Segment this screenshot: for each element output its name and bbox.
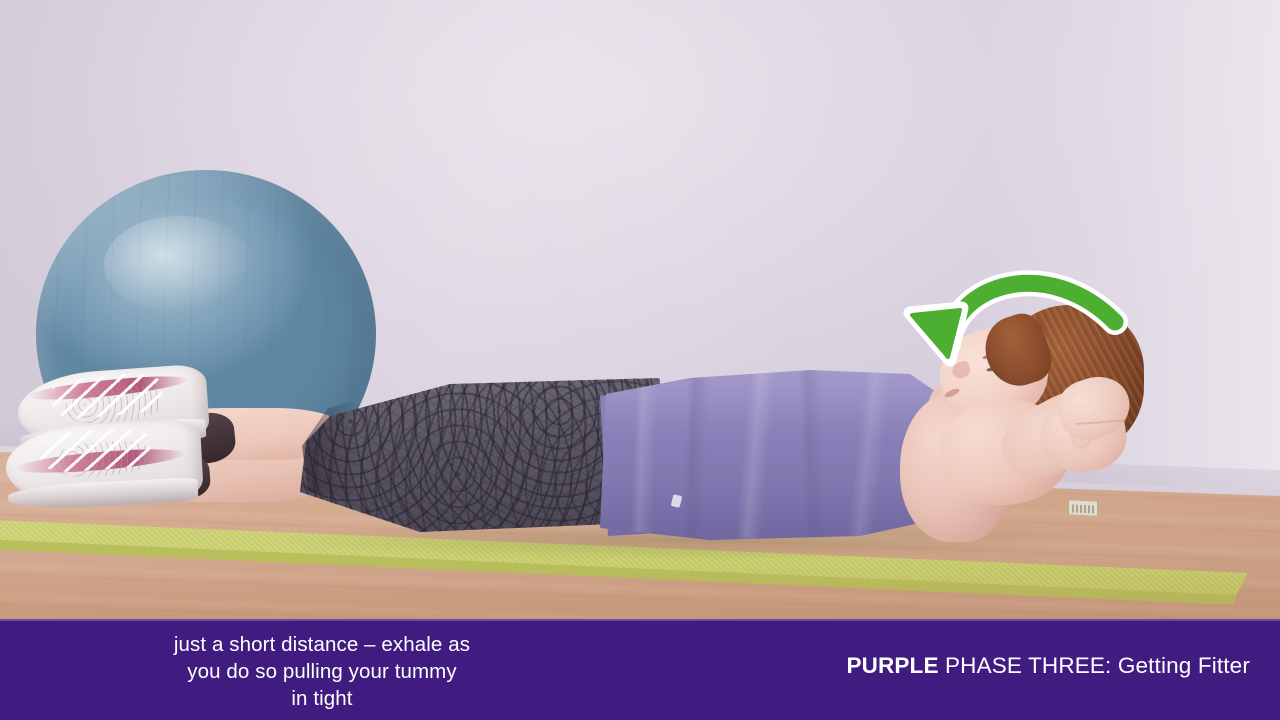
exercise-ball-highlight bbox=[104, 216, 254, 314]
phase-label-text: PHASE THREE: Getting Fitter bbox=[939, 653, 1250, 678]
subtitle-line-2: you do so pulling your tummy bbox=[12, 658, 632, 685]
subtitle-line-1: just a short distance – exhale as bbox=[12, 631, 632, 658]
floor-foreground-shading bbox=[0, 560, 1280, 620]
phase-label: PURPLE PHASE THREE: Getting Fitter bbox=[846, 652, 1250, 680]
subtitle-caption: just a short distance – exhale as you do… bbox=[12, 631, 632, 712]
caption-banner: just a short distance – exhale as you do… bbox=[0, 619, 1280, 720]
video-scene bbox=[0, 0, 1280, 620]
video-frame: just a short distance – exhale as you do… bbox=[0, 0, 1280, 720]
banner-top-divider bbox=[0, 619, 1280, 621]
yoga-mat-label bbox=[1068, 499, 1098, 516]
subtitle-line-3: in tight bbox=[12, 685, 632, 712]
phase-label-program: PURPLE bbox=[846, 653, 938, 678]
